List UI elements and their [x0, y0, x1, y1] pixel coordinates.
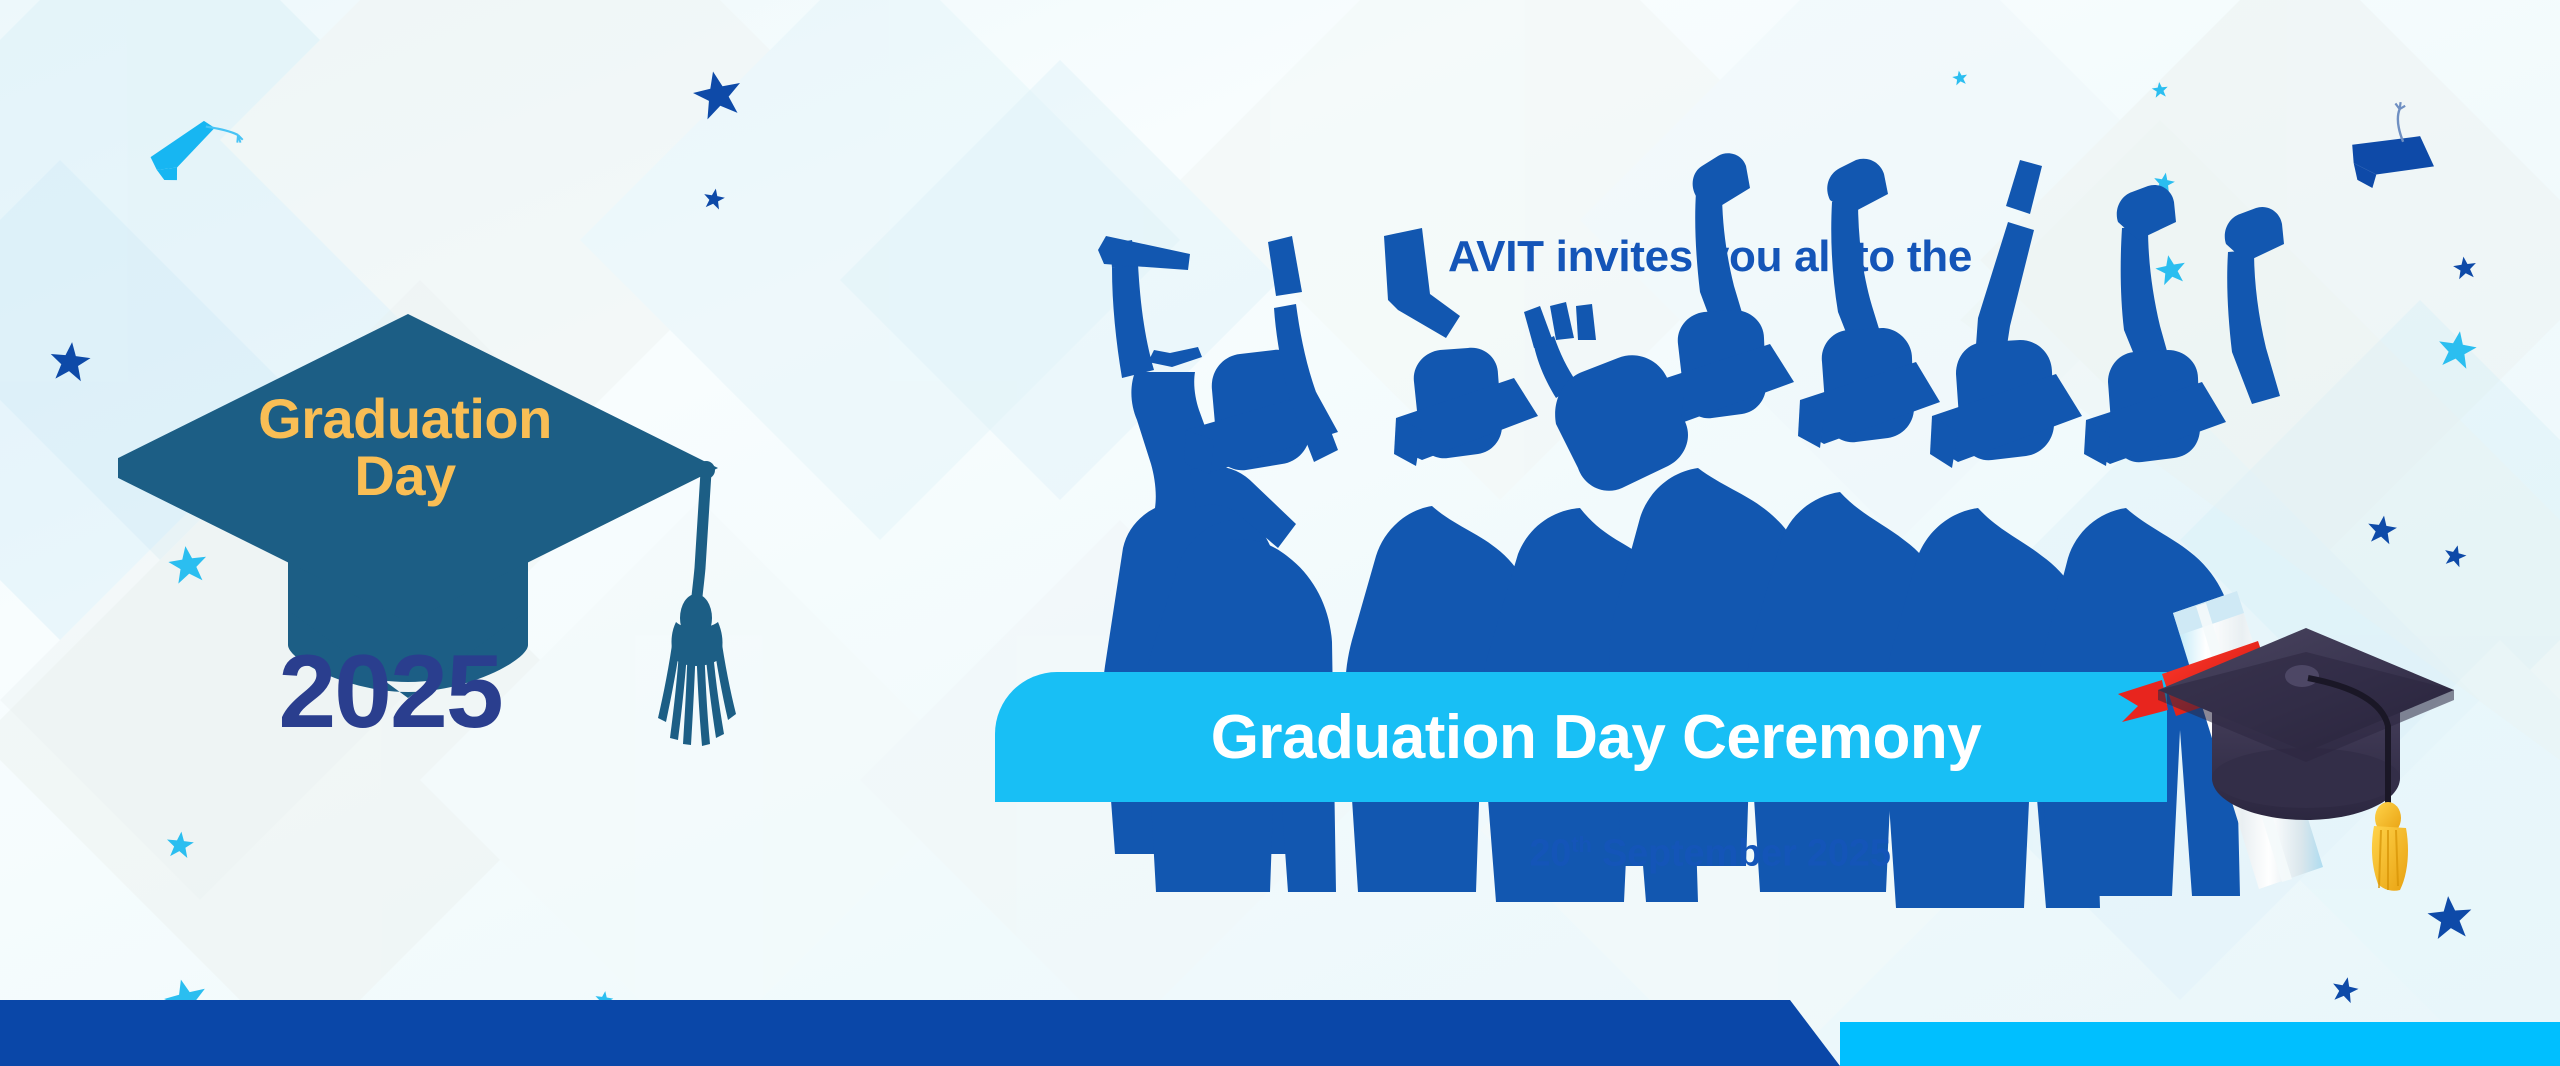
graduation-banner: Graduation Day 2025 AVIT invites you all…: [0, 0, 2560, 1066]
footer-bars: [0, 0, 2560, 1066]
footer-cyan-bar: [1840, 1022, 2560, 1066]
footer-navy-bar: [0, 1000, 1840, 1066]
